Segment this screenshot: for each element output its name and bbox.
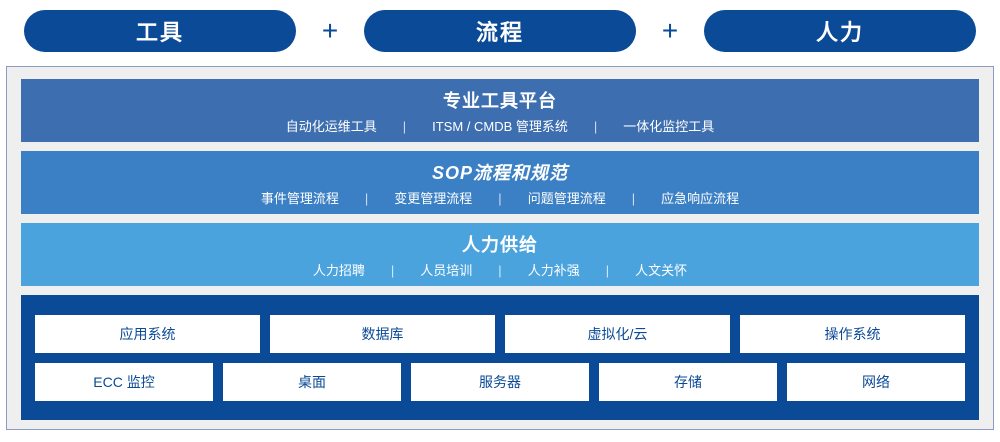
item-separator: | [486, 188, 513, 210]
infrastructure-row-1: 应用系统 数据库 虚拟化/云 操作系统 [35, 315, 965, 353]
layer-item: 人力招聘 [299, 260, 379, 282]
item-separator: | [582, 116, 609, 138]
layer-item: 自动化运维工具 [272, 116, 391, 138]
layer-item: 应急响应流程 [647, 188, 753, 210]
header-pill-row: 工具 + 流程 + 人力 [0, 0, 1000, 62]
layer-items-manpower: 人力招聘 | 人员培训 | 人力补强 | 人文关怀 [21, 260, 979, 282]
layer-band-manpower: 人力供给 人力招聘 | 人员培训 | 人力补强 | 人文关怀 [21, 223, 979, 286]
item-separator: | [379, 260, 406, 282]
plus-operator-icon-1: + [296, 17, 364, 45]
infra-box-operating-system[interactable]: 操作系统 [740, 315, 965, 353]
layer-band-sop: SOP流程和规范 事件管理流程 | 变更管理流程 | 问题管理流程 | 应急响应… [21, 151, 979, 214]
plus-operator-icon-2: + [636, 17, 704, 45]
header-pill-manpower-label: 人力 [816, 15, 864, 47]
item-separator: | [391, 116, 418, 138]
header-pill-manpower[interactable]: 人力 [704, 10, 976, 52]
layer-item: ITSM / CMDB 管理系统 [418, 116, 582, 138]
item-separator: | [353, 188, 380, 210]
infra-box-virtualization-cloud[interactable]: 虚拟化/云 [505, 315, 730, 353]
item-separator: | [620, 188, 647, 210]
layer-title-sop: SOP流程和规范 [21, 160, 979, 186]
layer-title-tools: 专业工具平台 [21, 88, 979, 114]
header-pill-tools[interactable]: 工具 [24, 10, 296, 52]
infra-box-desktop[interactable]: 桌面 [223, 363, 401, 401]
infra-box-ecc-monitoring[interactable]: ECC 监控 [35, 363, 213, 401]
header-pill-process-label: 流程 [476, 15, 524, 47]
infra-box-database[interactable]: 数据库 [270, 315, 495, 353]
infra-box-server[interactable]: 服务器 [411, 363, 589, 401]
layer-title-manpower: 人力供给 [21, 232, 979, 258]
layer-items-sop: 事件管理流程 | 变更管理流程 | 问题管理流程 | 应急响应流程 [21, 188, 979, 210]
capability-panel: 专业工具平台 自动化运维工具 | ITSM / CMDB 管理系统 | 一体化监… [6, 66, 994, 430]
layer-item: 事件管理流程 [247, 188, 353, 210]
infra-box-storage[interactable]: 存储 [599, 363, 777, 401]
layer-item: 变更管理流程 [380, 188, 486, 210]
infra-box-network[interactable]: 网络 [787, 363, 965, 401]
layer-item: 问题管理流程 [514, 188, 620, 210]
item-separator: | [594, 260, 621, 282]
infrastructure-row-2: ECC 监控 桌面 服务器 存储 网络 [35, 363, 965, 401]
layer-item: 一体化监控工具 [609, 116, 728, 138]
header-pill-process[interactable]: 流程 [364, 10, 636, 52]
layer-items-tools: 自动化运维工具 | ITSM / CMDB 管理系统 | 一体化监控工具 [21, 116, 979, 138]
layer-item: 人员培训 [406, 260, 486, 282]
infrastructure-block: 应用系统 数据库 虚拟化/云 操作系统 ECC 监控 桌面 服务器 存储 网络 [21, 295, 979, 420]
item-separator: | [486, 260, 513, 282]
header-pill-tools-label: 工具 [136, 15, 184, 47]
layer-band-tools: 专业工具平台 自动化运维工具 | ITSM / CMDB 管理系统 | 一体化监… [21, 79, 979, 142]
layer-item: 人文关怀 [621, 260, 701, 282]
infra-box-application[interactable]: 应用系统 [35, 315, 260, 353]
layer-item: 人力补强 [514, 260, 594, 282]
